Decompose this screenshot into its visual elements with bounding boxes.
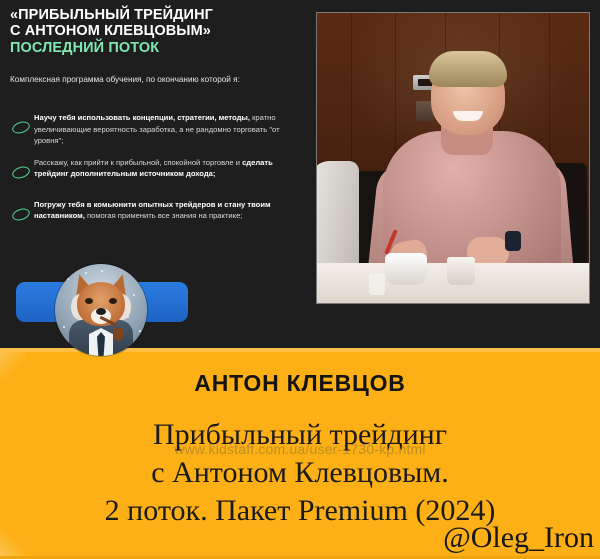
speaker-photo <box>316 12 590 304</box>
speaker-photo-image <box>317 13 589 303</box>
list-item-rest: помогая применить все знания на практике… <box>85 211 243 220</box>
author-name: АНТОН КЛЕВЦОВ <box>0 370 600 397</box>
fox-eye-left <box>85 298 93 304</box>
list-item-text: Научу тебя использовать концепции, страт… <box>34 112 298 147</box>
list-item: Расскажу, как прийти к прибыльной, споко… <box>8 157 298 189</box>
headline-line-1: «ПРИБЫЛЬНЫЙ ТРЕЙДИНГ <box>10 8 300 24</box>
promo-subheading: Комплексная программа обучения, по оконч… <box>10 73 260 86</box>
list-item: Научу тебя использовать концепции, страт… <box>8 112 298 147</box>
page-title: «ПРИБЫЛЬНЫЙ ТРЕЙДИНГ С АНТОНОМ КЛЕВЦОВЫМ… <box>10 8 300 56</box>
fox-eye-right <box>109 298 117 304</box>
list-item-text: Расскажу, как прийти к прибыльной, споко… <box>34 157 298 180</box>
benefits-list: Научу тебя использовать концепции, страт… <box>8 112 298 241</box>
list-item-strong: Научу тебя использовать концепции, страт… <box>34 113 250 122</box>
promo-image-root: «ПРИБЫЛЬНЫЙ ТРЕЙДИНГ С АНТОНОМ КЛЕВЦОВЫМ… <box>0 0 600 559</box>
seller-handle: @Oleg_Iron <box>443 521 594 555</box>
fox-nose <box>96 308 106 315</box>
headline-line-3-accent: ПОСЛЕДНИЙ ПОТОК <box>10 40 300 56</box>
product-card: АНТОН КЛЕВЦОВ www.kidstaff.com.ua/user-1… <box>0 348 600 559</box>
ellipse-bullet-icon <box>8 199 34 220</box>
product-title: Прибыльный трейдинг с Антоном Клевцовым.… <box>0 416 600 530</box>
ellipse-bullet-icon <box>8 157 34 178</box>
headline-line-2: С АНТОНОМ КЛЕВЦОВЫМ» <box>10 24 300 40</box>
list-item: Погружу тебя в комьюнити опытных трейдер… <box>8 199 298 231</box>
avatar <box>55 264 147 356</box>
list-item-text: Погружу тебя в комьюнити опытных трейдер… <box>34 199 298 222</box>
list-item-rest: Расскажу, как прийти к прибыльной, споко… <box>34 158 242 167</box>
fox-tie <box>97 332 105 356</box>
ellipse-bullet-icon <box>8 112 34 133</box>
